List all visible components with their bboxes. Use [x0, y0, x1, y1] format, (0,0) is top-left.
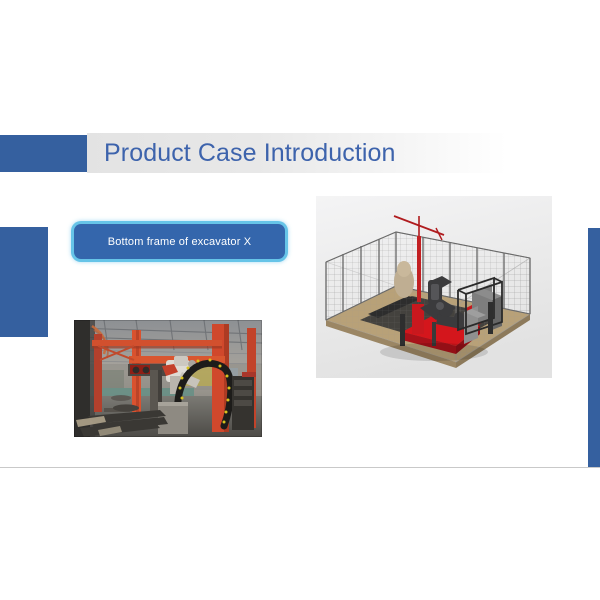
accent-strip-right: [588, 228, 600, 468]
photo-artwork: [74, 320, 262, 437]
callout-label: Bottom frame of excavator X: [108, 236, 251, 248]
robotic-welding-cell-3d-render: [316, 196, 552, 378]
slide-canvas: Product Case Introduction Bottom frame o…: [0, 0, 600, 600]
baseline-rule: [0, 467, 600, 468]
title-accent-block: [0, 135, 87, 172]
callout-bottom-frame[interactable]: Bottom frame of excavator X: [74, 224, 285, 259]
accent-block-left: [0, 227, 48, 337]
factory-welding-gantry-photo: [74, 320, 262, 437]
page-title: Product Case Introduction: [104, 136, 396, 170]
render-artwork: [316, 196, 552, 378]
